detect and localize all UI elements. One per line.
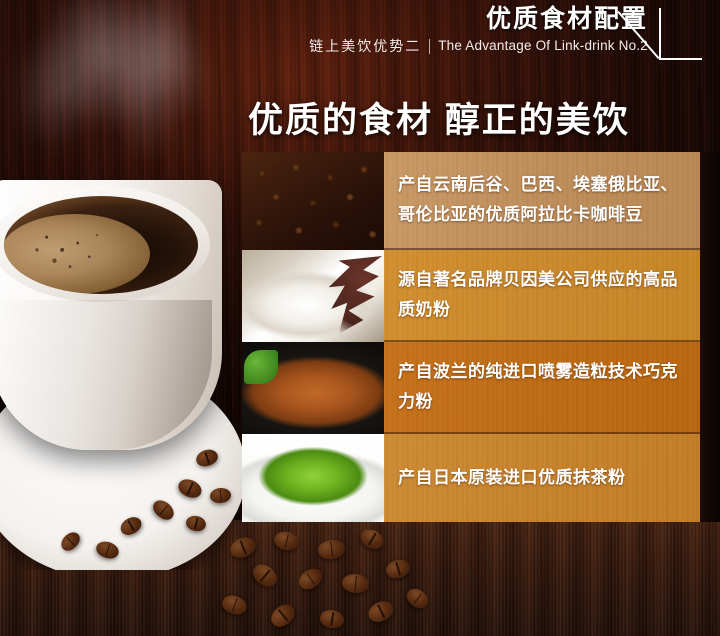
bottom-coffee-beans <box>200 530 540 636</box>
coffee-bean-icon <box>319 608 346 630</box>
coffee-bean-icon <box>317 538 346 561</box>
mint-leaf-icon <box>244 350 278 384</box>
coffee-beans-photo <box>242 152 384 250</box>
coffee-cup-photo <box>0 150 246 570</box>
cup-shape <box>0 180 222 450</box>
milk-powder-photo <box>242 250 384 342</box>
coffee-bean-icon <box>365 597 397 625</box>
poster-header: 优质食材配置 链上美饮优势二 The Advantage Of Link-dri… <box>0 0 720 72</box>
chart-arrow-mark-icon <box>656 8 702 60</box>
divider-line <box>429 39 430 54</box>
chocolate-powder-photo <box>242 342 384 434</box>
coffee-bean-icon <box>295 565 326 594</box>
promo-poster: 优质食材配置 链上美饮优势二 The Advantage Of Link-dri… <box>0 0 720 636</box>
coffee-bean-icon <box>341 573 370 595</box>
coffee-bean-icon <box>249 560 281 591</box>
coffee-bean-icon <box>357 530 387 553</box>
ingredient-panel-milk: 源自著名品牌贝因美公司供应的高品质奶粉 <box>384 250 700 342</box>
ingredient-description-panels: 产自云南后谷、巴西、埃塞俄比亚、哥伦比亚的优质阿拉比卡咖啡豆 源自著名品牌贝因美… <box>384 152 700 522</box>
leaf-decoration-icon <box>320 256 382 334</box>
header-subtitle-cn: 链上美饮优势二 <box>309 37 421 55</box>
ingredient-thumbnail-column <box>242 152 384 522</box>
ingredient-text: 产自波兰的纯进口喷雾造粒技术巧克力粉 <box>398 357 686 417</box>
coffee-bean-icon <box>220 592 250 617</box>
matcha-powder-photo <box>242 434 384 522</box>
ingredient-panel-matcha: 产自日本原装进口优质抹茶粉 <box>384 434 700 522</box>
header-subtitle-en: The Advantage Of Link-drink No.2 <box>438 37 648 55</box>
header-subtitle: 链上美饮优势二 The Advantage Of Link-drink No.2 <box>309 37 648 55</box>
coffee-bean-icon <box>227 534 258 561</box>
ingredient-panel-coffee: 产自云南后谷、巴西、埃塞俄比亚、哥伦比亚的优质阿拉比卡咖啡豆 <box>384 152 700 250</box>
ingredient-text: 产自云南后谷、巴西、埃塞俄比亚、哥伦比亚的优质阿拉比卡咖啡豆 <box>398 170 686 230</box>
coffee-bean-icon <box>272 530 301 553</box>
coffee-bean-icon <box>267 600 299 631</box>
ingredient-panel-chocolate: 产自波兰的纯进口喷雾造粒技术巧克力粉 <box>384 342 700 434</box>
ingredient-text: 源自著名品牌贝因美公司供应的高品质奶粉 <box>398 265 686 325</box>
cup-shading <box>0 300 212 450</box>
coffee-surface-shape <box>4 196 198 294</box>
foam-bubbles-texture <box>4 196 198 294</box>
ingredient-text: 产自日本原装进口优质抹茶粉 <box>398 463 626 493</box>
coffee-bean-icon <box>403 585 432 612</box>
coffee-bean-icon <box>384 557 412 581</box>
right-edge-strip <box>700 152 720 522</box>
page-title: 优质的食材 醇正的美饮 <box>248 100 708 142</box>
